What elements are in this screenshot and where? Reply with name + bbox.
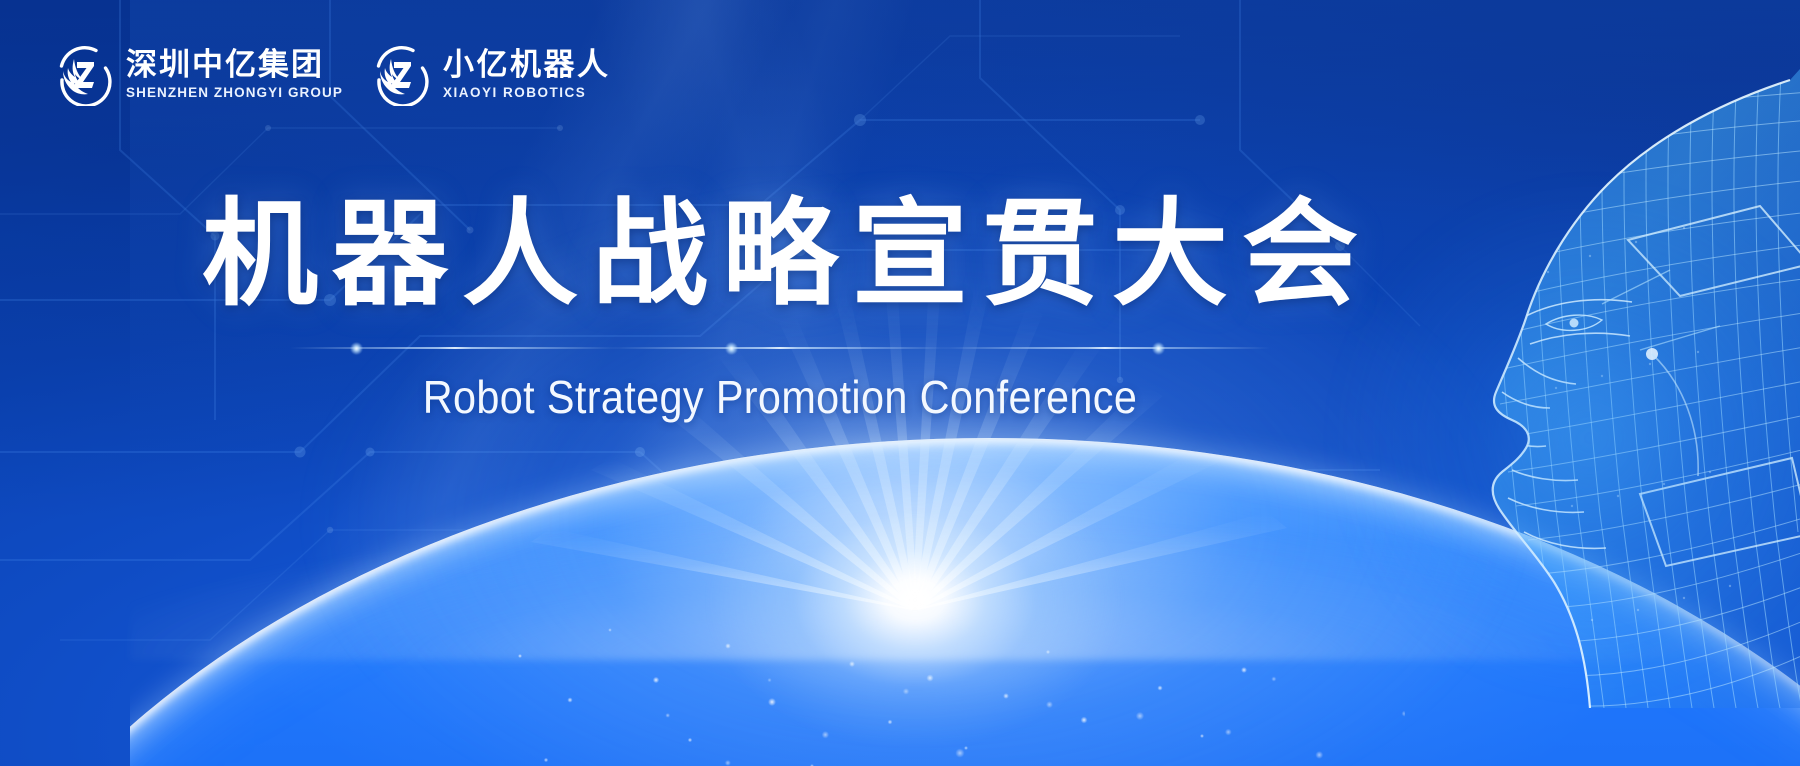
- earth-atmospheric-limb: [130, 438, 1800, 766]
- logo-text-group: 深圳中亿集团 SHENZHEN ZHONGYI GROUP: [126, 49, 343, 101]
- circular-z-emblem-icon: [369, 44, 431, 106]
- divider-node: [725, 342, 738, 355]
- conference-banner: 深圳中亿集团 SHENZHEN ZHONGYI GROUP 小亿机器人 XIAO…: [0, 0, 1800, 766]
- logo-name-en: SHENZHEN ZHONGYI GROUP: [126, 85, 343, 101]
- logo-text-group: 小亿机器人 XIAOYI ROBOTICS: [443, 49, 611, 101]
- logo-bar: 深圳中亿集团 SHENZHEN ZHONGYI GROUP 小亿机器人 XIAO…: [52, 44, 610, 106]
- headline-block: 机器人战略宣贯大会 Robot Strategy Promotion Confe…: [0, 196, 1560, 423]
- page-title: 机器人战略宣贯大会: [0, 196, 1560, 312]
- circular-z-emblem-icon: [52, 44, 114, 106]
- logo-name-cn: 小亿机器人: [443, 49, 611, 82]
- light-streak-divider: [280, 338, 1280, 358]
- divider-node: [1152, 342, 1165, 355]
- logo-name-en: XIAOYI ROBOTICS: [443, 85, 611, 101]
- logo-shenzhen-zhongyi-group[interactable]: 深圳中亿集团 SHENZHEN ZHONGYI GROUP: [52, 44, 343, 106]
- divider-streak: [940, 347, 1270, 349]
- logo-name-cn: 深圳中亿集团: [126, 49, 343, 82]
- page-subtitle: Robot Strategy Promotion Conference: [78, 372, 1482, 423]
- logo-xiaoyi-robotics[interactable]: 小亿机器人 XIAOYI ROBOTICS: [369, 44, 611, 106]
- divider-streak: [290, 347, 620, 349]
- divider-node: [350, 342, 363, 355]
- divider-streak: [610, 347, 950, 349]
